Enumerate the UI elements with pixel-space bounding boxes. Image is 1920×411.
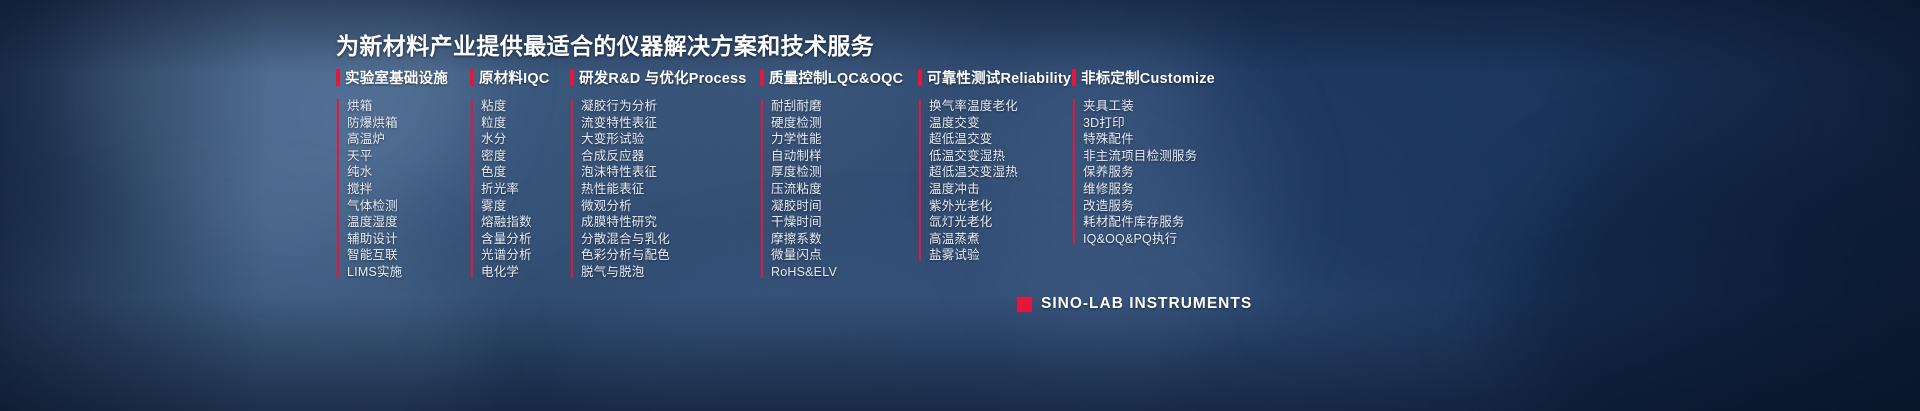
header-accent-bar-icon [760,69,764,86]
list-accent-rule-icon [761,99,763,278]
list-item[interactable]: 耐刮耐磨 [771,98,918,115]
list-item[interactable]: 搅拌 [347,181,470,198]
banner-content: 为新材料产业提供最适合的仪器解决方案和技术服务 实验室基础设施烘箱防爆烘箱高温炉… [0,0,1920,411]
list-item[interactable]: 密度 [481,148,570,165]
list-item[interactable]: 微量闪点 [771,247,918,264]
list-item[interactable]: 辅助设计 [347,231,470,248]
category-title: 原材料IQC [479,67,549,88]
list-item[interactable]: 维修服务 [1083,181,1272,198]
category-title: 可靠性测试Reliability [927,67,1071,88]
list-item[interactable]: 防爆烘箱 [347,115,470,132]
list-item[interactable]: 泡沫特性表征 [581,164,760,181]
category-item-list: 烘箱防爆烘箱高温炉天平纯水搅拌气体检测温度湿度辅助设计智能互联LIMS实施 [336,98,470,281]
list-item[interactable]: LIMS实施 [347,264,470,281]
category-header[interactable]: 质量控制LQC&OQC [760,68,918,87]
list-item[interactable]: 烘箱 [347,98,470,115]
list-item[interactable]: 纯水 [347,164,470,181]
category-column: 研发R&D 与优化Process凝胶行为分析流变特性表征大变形试验合成反应器泡沫… [570,68,760,281]
category-item-list: 换气率温度老化温度交变超低温交变低温交变湿热超低温交变湿热温度冲击紫外光老化氙灯… [918,98,1072,264]
list-item[interactable]: 耗材配件库存服务 [1083,214,1272,231]
list-item[interactable]: 改造服务 [1083,198,1272,215]
category-item-list: 凝胶行为分析流变特性表征大变形试验合成反应器泡沫特性表征热性能表征微观分析成膜特… [570,98,760,281]
category-title: 研发R&D 与优化Process [579,67,747,88]
list-item[interactable]: 高温蒸煮 [929,231,1072,248]
list-item[interactable]: 特殊配件 [1083,131,1272,148]
list-item[interactable]: 粘度 [481,98,570,115]
header-accent-bar-icon [918,69,922,86]
category-item-list: 夹具工装3D打印特殊配件非主流项目检测服务保养服务维修服务改造服务耗材配件库存服… [1072,98,1272,247]
brand-square-icon [1017,297,1032,312]
list-item[interactable]: RoHS&ELV [771,264,918,281]
list-item[interactable]: 色度 [481,164,570,181]
category-header[interactable]: 原材料IQC [470,68,570,87]
list-item[interactable]: 色彩分析与配色 [581,247,760,264]
list-item[interactable]: 脱气与脱泡 [581,264,760,281]
list-accent-rule-icon [337,99,339,278]
list-item[interactable]: 氙灯光老化 [929,214,1072,231]
list-item[interactable]: 合成反应器 [581,148,760,165]
list-item[interactable]: 温度湿度 [347,214,470,231]
list-item[interactable]: 智能互联 [347,247,470,264]
list-item[interactable]: 温度冲击 [929,181,1072,198]
list-item[interactable]: 凝胶行为分析 [581,98,760,115]
list-item[interactable]: 3D打印 [1083,115,1272,132]
list-item[interactable]: 成膜特性研究 [581,214,760,231]
list-item[interactable]: 流变特性表征 [581,115,760,132]
list-item[interactable]: 盐雾试验 [929,247,1072,264]
category-item-list: 耐刮耐磨硬度检测力学性能自动制样厚度检测压流粘度凝胶时间干燥时间摩擦系数微量闪点… [760,98,918,281]
list-item[interactable]: 超低温交变湿热 [929,164,1072,181]
list-item[interactable]: 分散混合与乳化 [581,231,760,248]
list-item[interactable]: 电化学 [481,264,570,281]
category-title: 实验室基础设施 [345,67,448,88]
header-accent-bar-icon [336,69,340,86]
category-title: 质量控制LQC&OQC [769,67,903,88]
category-column: 实验室基础设施烘箱防爆烘箱高温炉天平纯水搅拌气体检测温度湿度辅助设计智能互联LI… [336,68,470,281]
list-item[interactable]: 硬度检测 [771,115,918,132]
list-item[interactable]: 雾度 [481,198,570,215]
list-item[interactable]: 天平 [347,148,470,165]
category-column: 非标定制Customize夹具工装3D打印特殊配件非主流项目检测服务保养服务维修… [1072,68,1272,247]
list-item[interactable]: 摩擦系数 [771,231,918,248]
list-item[interactable]: 大变形试验 [581,131,760,148]
brand-name: SINO-LAB INSTRUMENTS [1041,295,1252,313]
category-header[interactable]: 研发R&D 与优化Process [570,68,760,87]
list-accent-rule-icon [471,99,473,278]
category-header[interactable]: 非标定制Customize [1072,68,1272,87]
list-item[interactable]: 高温炉 [347,131,470,148]
list-item[interactable]: 超低温交变 [929,131,1072,148]
service-category-columns: 实验室基础设施烘箱防爆烘箱高温炉天平纯水搅拌气体检测温度湿度辅助设计智能互联LI… [336,68,1272,281]
category-header[interactable]: 可靠性测试Reliability [918,68,1072,87]
page-title: 为新材料产业提供最适合的仪器解决方案和技术服务 [336,27,874,61]
list-item[interactable]: 自动制样 [771,148,918,165]
list-item[interactable]: 温度交变 [929,115,1072,132]
list-item[interactable]: 低温交变湿热 [929,148,1072,165]
category-header[interactable]: 实验室基础设施 [336,68,470,87]
category-title: 非标定制Customize [1081,67,1215,88]
list-item[interactable]: 凝胶时间 [771,198,918,215]
list-accent-rule-icon [1073,99,1075,244]
category-column: 可靠性测试Reliability换气率温度老化温度交变超低温交变低温交变湿热超低… [918,68,1072,264]
list-item[interactable]: 非主流项目检测服务 [1083,148,1272,165]
category-column: 原材料IQC粘度粒度水分密度色度折光率雾度熔融指数含量分析光谱分析电化学 [470,68,570,281]
header-accent-bar-icon [570,69,574,86]
list-item[interactable]: 粒度 [481,115,570,132]
list-item[interactable]: 干燥时间 [771,214,918,231]
list-item[interactable]: 水分 [481,131,570,148]
marketing-banner: 为新材料产业提供最适合的仪器解决方案和技术服务 实验室基础设施烘箱防爆烘箱高温炉… [0,0,1920,411]
category-item-list: 粘度粒度水分密度色度折光率雾度熔融指数含量分析光谱分析电化学 [470,98,570,281]
list-item[interactable]: 紫外光老化 [929,198,1072,215]
list-item[interactable]: 光谱分析 [481,247,570,264]
list-item[interactable]: 力学性能 [771,131,918,148]
list-item[interactable]: IQ&OQ&PQ执行 [1083,231,1272,248]
list-item[interactable]: 微观分析 [581,198,760,215]
list-accent-rule-icon [571,99,573,278]
list-item[interactable]: 气体检测 [347,198,470,215]
list-item[interactable]: 热性能表征 [581,181,760,198]
list-accent-rule-icon [919,99,921,261]
list-item[interactable]: 厚度检测 [771,164,918,181]
list-item[interactable]: 含量分析 [481,231,570,248]
list-item[interactable]: 换气率温度老化 [929,98,1072,115]
list-item[interactable]: 压流粘度 [771,181,918,198]
category-column: 质量控制LQC&OQC耐刮耐磨硬度检测力学性能自动制样厚度检测压流粘度凝胶时间干… [760,68,918,281]
brand-logo: SINO-LAB INSTRUMENTS [1017,295,1252,313]
list-item[interactable]: 夹具工装 [1083,98,1272,115]
header-accent-bar-icon [1072,69,1076,86]
list-item[interactable]: 保养服务 [1083,164,1272,181]
header-accent-bar-icon [470,69,474,86]
list-item[interactable]: 折光率 [481,181,570,198]
list-item[interactable]: 熔融指数 [481,214,570,231]
